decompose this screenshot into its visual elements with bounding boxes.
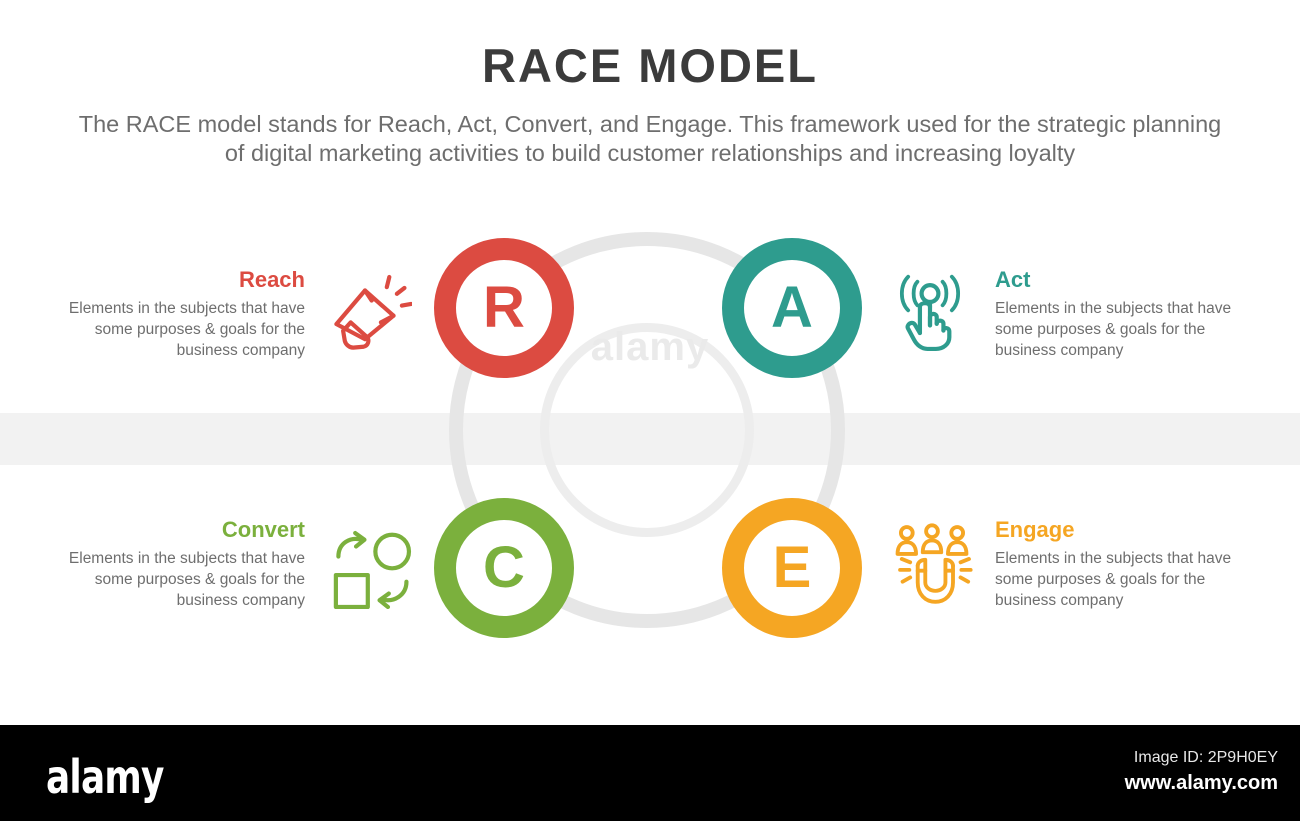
- section-description-convert: Elements in the subjects that have some …: [64, 548, 305, 611]
- page-title: RACE MODEL: [0, 38, 1300, 93]
- section-act: Act Elements in the subjects that have s…: [995, 268, 1236, 361]
- letter-circle-reach[interactable]: R: [434, 238, 574, 378]
- section-reach: Reach Elements in the subjects that have…: [64, 268, 305, 361]
- page-subtitle: The RACE model stands for Reach, Act, Co…: [70, 110, 1230, 168]
- conversion-arrows-icon: [330, 528, 414, 612]
- tap-hand-icon: [888, 270, 972, 354]
- section-title-reach: Reach: [64, 268, 305, 292]
- letter-glyph-e: E: [773, 539, 812, 597]
- section-engage: Engage Elements in the subjects that hav…: [995, 518, 1236, 611]
- center-watermark: alamy: [560, 325, 740, 385]
- infographic-canvas: RACE MODEL The RACE model stands for Rea…: [0, 0, 1300, 725]
- section-convert: Convert Elements in the subjects that ha…: [64, 518, 305, 611]
- image-id-label: Image ID: 2P9H0EY: [1134, 749, 1278, 767]
- section-title-engage: Engage: [995, 518, 1236, 542]
- letter-glyph-r: R: [483, 279, 525, 337]
- alamy-logo: alamy: [46, 750, 164, 804]
- letter-circle-act[interactable]: A: [722, 238, 862, 378]
- letter-glyph-c: C: [483, 539, 525, 597]
- section-title-convert: Convert: [64, 518, 305, 542]
- magnet-people-icon: [890, 522, 974, 606]
- letter-circle-engage[interactable]: E: [722, 498, 862, 638]
- megaphone-icon: [328, 272, 412, 356]
- section-description-engage: Elements in the subjects that have some …: [995, 548, 1236, 611]
- section-description-reach: Elements in the subjects that have some …: [64, 298, 305, 361]
- alamy-footer-bar: alamy Image ID: 2P9H0EY www.alamy.com: [0, 725, 1300, 821]
- letter-glyph-a: A: [771, 279, 813, 337]
- section-title-act: Act: [995, 268, 1236, 292]
- alamy-url: www.alamy.com: [1125, 772, 1278, 795]
- letter-circle-convert[interactable]: C: [434, 498, 574, 638]
- section-description-act: Elements in the subjects that have some …: [995, 298, 1236, 361]
